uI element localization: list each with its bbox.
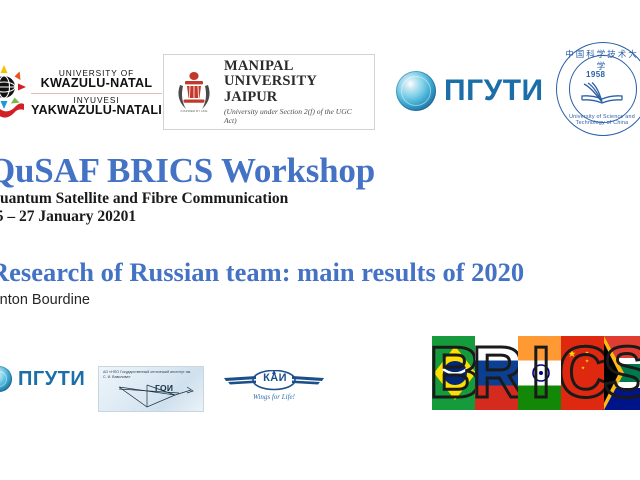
presentation-slide: UNIVERSITY OF KWAZULU-NATAL INYUVESI YAK… xyxy=(0,0,640,480)
ukzn-divider xyxy=(31,93,162,94)
ustc-founding-year: 1958 xyxy=(586,70,605,79)
manipal-line-2: JAIPUR xyxy=(224,90,366,105)
talk-block: Research of Russian team: main results o… xyxy=(0,258,640,310)
workshop-dates: 25 – 27 January 20201 xyxy=(0,208,640,227)
ustc-chinese-name: 中国科学技术大学 xyxy=(565,48,639,72)
ukzn-wordmark: UNIVERSITY OF KWAZULU-NATAL INYUVESI YAK… xyxy=(31,69,162,117)
brics-letter-i: I xyxy=(518,336,564,410)
brics-glyph-c: C xyxy=(561,336,607,410)
pguti-sphere-icon xyxy=(0,366,12,392)
pguti-wordmark: ПГУТИ xyxy=(18,369,85,389)
ukzn-emblem-icon xyxy=(0,61,26,125)
brics-letter-r: R xyxy=(475,336,521,410)
pguti-logo-header: ПГУТИ xyxy=(396,64,548,118)
manipal-line-3: (University under Section 2(f) of the UG… xyxy=(224,107,366,125)
brics-logo: B R I xyxy=(432,336,640,410)
workshop-subtitle: Quantum Satellite and Fibre Communicatio… xyxy=(0,190,640,208)
pguti-wordmark: ПГУТИ xyxy=(444,76,544,106)
ustc-english-name: University of Science and Technology of … xyxy=(560,114,640,126)
workshop-title: QuSAF BRICS Workshop xyxy=(0,152,640,190)
ukzn-logo: UNIVERSITY OF KWAZULU-NATAL INYUVESI YAK… xyxy=(0,52,172,134)
brics-letter-b: B xyxy=(432,336,478,410)
ukzn-line-2: KWAZULU-NATAL xyxy=(31,77,162,90)
talk-heading: Research of Russian team: main results o… xyxy=(0,258,640,287)
header-logo-band: UNIVERSITY OF KWAZULU-NATAL INYUVESI YAK… xyxy=(0,42,640,142)
brics-glyph-i: I xyxy=(518,336,564,410)
manipal-logo: INSPIRED BY LIFE MANIPAL UNIVERSITY JAIP… xyxy=(163,54,375,130)
goi-logo: АО «НПО Государственный оптический инсти… xyxy=(98,366,204,412)
brics-letter-s: S xyxy=(604,336,640,410)
brics-glyph-s: S xyxy=(604,336,640,410)
kai-wordmark: КАИ xyxy=(258,372,292,384)
workshop-title-block: QuSAF BRICS Workshop Quantum Satellite a… xyxy=(0,152,640,226)
goi-wordmark: ГОИ xyxy=(155,383,173,393)
brics-glyph-r: R xyxy=(475,336,521,410)
talk-author: Anton Bourdine xyxy=(0,292,640,309)
ukzn-line-4: YAKWAZULU-NATALI xyxy=(31,104,162,117)
svg-text:INSPIRED BY LIFE: INSPIRED BY LIFE xyxy=(181,109,208,113)
brics-glyph-b: B xyxy=(432,336,478,410)
goi-caption: АО «НПО Государственный оптический инсти… xyxy=(103,370,195,380)
kai-logo: КАИ Wings for Life! xyxy=(222,368,326,408)
manipal-crest-icon: INSPIRED BY LIFE xyxy=(172,69,216,115)
pguti-sphere-icon xyxy=(396,71,436,111)
brics-letter-c: C xyxy=(561,336,607,410)
ustc-logo: 中国科学技术大学 1958 University of Science and … xyxy=(556,42,640,142)
kai-tagline: Wings for Life! xyxy=(222,393,326,401)
manipal-line-1: MANIPAL UNIVERSITY xyxy=(224,59,366,90)
pguti-logo-footer: ПГУТИ xyxy=(0,366,85,392)
ustc-book-icon xyxy=(578,80,626,106)
manipal-wordmark: MANIPAL UNIVERSITY JAIPUR (University un… xyxy=(224,59,366,125)
